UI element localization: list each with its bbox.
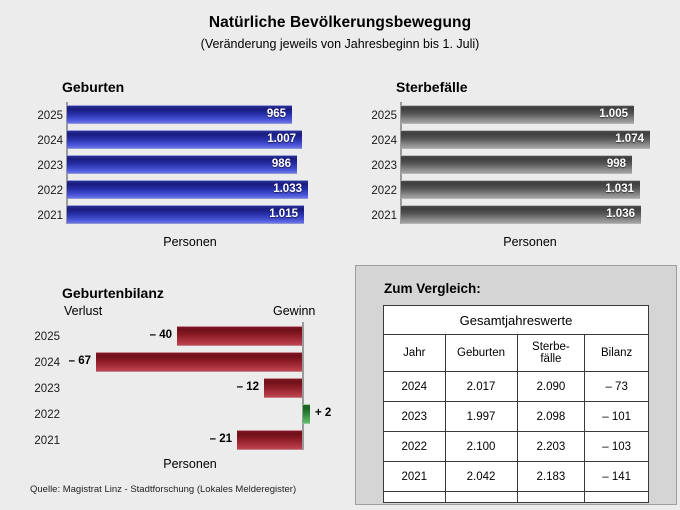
chart-geburtenbilanz-bar-2021 <box>237 430 302 450</box>
cell-jahr: 2024 <box>384 372 446 402</box>
chart-geburtenbilanz-bar-2024 <box>96 352 302 372</box>
chart-geburtenbilanz-cat-2023: 2023 <box>18 383 60 395</box>
chart-geburten-value-2025: 965 <box>230 108 286 120</box>
chart-geburtenbilanz-value-2022: + 2 <box>315 407 355 419</box>
cell-jahr: 2023 <box>384 402 446 432</box>
source-note: Quelle: Magistrat Linz - Stadtforschung … <box>30 484 296 495</box>
cell-jahr: 2021 <box>384 462 446 492</box>
chart-geburten-value-2023: 986 <box>235 158 291 170</box>
chart-geburtenbilanz-title: Geburtenbilanz <box>62 285 164 301</box>
chart-geburtenbilanz-zero-axis <box>302 322 304 450</box>
cell-sterbefaelle: 2.183 <box>517 462 585 492</box>
chart-geburten-title: Geburten <box>62 79 124 95</box>
spacer-cell <box>517 492 585 503</box>
table-header-geburten: Geburten <box>445 335 517 372</box>
chart-sterbefaelle-title: Sterbefälle <box>396 79 468 95</box>
infographic-page: Natürliche Bevölkerungsbewegung (Verände… <box>0 0 680 510</box>
chart-geburtenbilanz-left-caption: Verlust <box>64 304 102 318</box>
table-caption-row: Gesamtjahreswerte <box>384 306 649 335</box>
chart-sterbefaelle-cat-2021: 2021 <box>347 210 397 222</box>
chart-sterbefaelle-value-2024: 1.074 <box>588 133 644 145</box>
cell-geburten: 2.100 <box>445 432 517 462</box>
cell-bilanz: – 103 <box>585 432 649 462</box>
chart-geburtenbilanz-value-2021: – 21 <box>178 433 232 445</box>
chart-sterbefaelle-xlabel: Personen <box>460 235 600 249</box>
table-spacer-row <box>384 492 649 503</box>
table-caption: Gesamtjahreswerte <box>384 306 649 335</box>
cell-sterbefaelle: 2.098 <box>517 402 585 432</box>
spacer-cell <box>585 492 649 503</box>
table-header-sterbefaelle-line2: fälle <box>540 353 561 365</box>
chart-geburten-value-2022: 1.033 <box>246 183 302 195</box>
table-header-jahr: Jahr <box>384 335 446 372</box>
chart-sterbefaelle-cat-2023: 2023 <box>347 160 397 172</box>
spacer-cell <box>445 492 517 503</box>
cell-bilanz: – 101 <box>585 402 649 432</box>
chart-geburten-cat-2023: 2023 <box>13 160 63 172</box>
cell-sterbefaelle: 2.090 <box>517 372 585 402</box>
chart-geburtenbilanz-xlabel: Personen <box>120 457 260 471</box>
cell-geburten: 2.042 <box>445 462 517 492</box>
chart-geburten-xlabel: Personen <box>120 235 260 249</box>
chart-geburtenbilanz-cat-2025: 2025 <box>18 331 60 343</box>
chart-sterbefaelle-cat-2024: 2024 <box>347 135 397 147</box>
chart-geburtenbilanz-bar-2022 <box>303 404 310 424</box>
table-header-sterbefaelle-line1: Sterbe- <box>532 341 570 353</box>
spacer-cell <box>384 492 446 503</box>
table-row: 2021 2.042 2.183 – 141 <box>384 462 649 492</box>
cell-geburten: 1.997 <box>445 402 517 432</box>
cell-jahr: 2022 <box>384 432 446 462</box>
chart-geburtenbilanz-value-2023: – 12 <box>205 381 259 393</box>
chart-geburtenbilanz-cat-2022: 2022 <box>18 409 60 421</box>
chart-geburtenbilanz-bar-2025 <box>177 326 302 346</box>
chart-geburtenbilanz-right-caption: Gewinn <box>273 304 315 318</box>
page-title: Natürliche Bevölkerungsbewegung <box>0 14 680 32</box>
chart-geburten-cat-2024: 2024 <box>13 135 63 147</box>
chart-sterbefaelle-cat-2025: 2025 <box>347 110 397 122</box>
table-row: 2024 2.017 2.090 – 73 <box>384 372 649 402</box>
chart-geburtenbilanz-value-2025: – 40 <box>118 329 172 341</box>
table-row: 2023 1.997 2.098 – 101 <box>384 402 649 432</box>
chart-sterbefaelle-value-2023: 998 <box>570 158 626 170</box>
table-row: 2022 2.100 2.203 – 103 <box>384 432 649 462</box>
chart-sterbefaelle-value-2025: 1.005 <box>572 108 628 120</box>
chart-geburten-cat-2025: 2025 <box>13 110 63 122</box>
chart-geburten-cat-2022: 2022 <box>13 185 63 197</box>
chart-geburtenbilanz-cat-2021: 2021 <box>18 435 60 447</box>
comparison-heading: Zum Vergleich: <box>384 281 481 296</box>
page-subtitle: (Veränderung jeweils von Jahresbeginn bi… <box>0 37 680 51</box>
cell-geburten: 2.017 <box>445 372 517 402</box>
cell-bilanz: – 73 <box>585 372 649 402</box>
chart-geburtenbilanz-value-2024: – 67 <box>37 355 91 367</box>
table-header-sterbefaelle: Sterbe- fälle <box>517 335 585 372</box>
table-header-bilanz: Bilanz <box>585 335 649 372</box>
cell-sterbefaelle: 2.203 <box>517 432 585 462</box>
chart-geburten-cat-2021: 2021 <box>13 210 63 222</box>
cell-bilanz: – 141 <box>585 462 649 492</box>
comparison-table: Gesamtjahreswerte Jahr Geburten Sterbe- … <box>383 305 649 503</box>
chart-geburten-value-2021: 1.015 <box>242 208 298 220</box>
chart-sterbefaelle-value-2022: 1.031 <box>578 183 634 195</box>
table-header-row: Jahr Geburten Sterbe- fälle Bilanz <box>384 335 649 372</box>
chart-sterbefaelle-value-2021: 1.036 <box>579 208 635 220</box>
chart-geburten-value-2024: 1.007 <box>240 133 296 145</box>
chart-geburtenbilanz-bar-2023 <box>264 378 302 398</box>
chart-sterbefaelle-cat-2022: 2022 <box>347 185 397 197</box>
